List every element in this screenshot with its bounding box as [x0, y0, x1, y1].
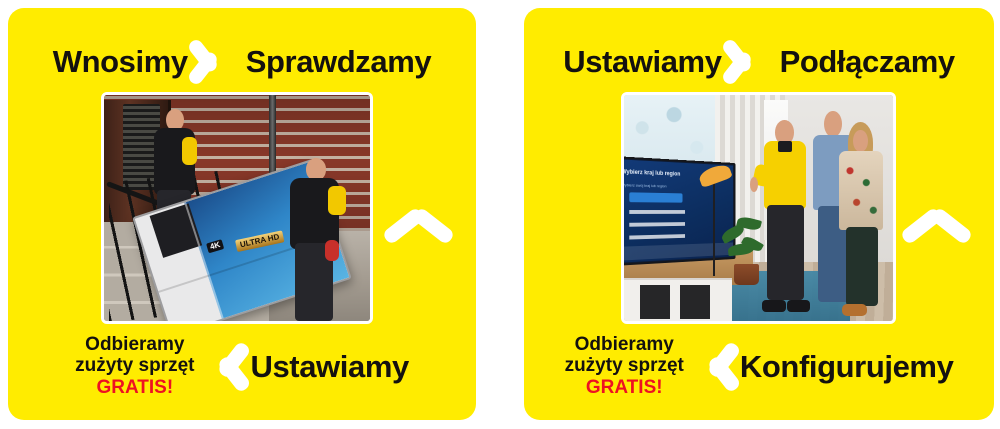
tv-setup-options	[629, 209, 685, 240]
cabinet-compartment-2	[680, 285, 710, 319]
tv-setup-title: Wybierz kraj lub region	[624, 170, 681, 178]
chevron-down-icon	[902, 206, 972, 246]
pickup-offer-delivery: Odbieramy zużyty sprzęt GRATIS!	[75, 334, 194, 398]
step-label-ustawiamy-header: Ustawiamy	[563, 46, 721, 77]
panel-delivery-header: Wnosimy Sprawdzamy	[8, 30, 476, 92]
chevron-right-icon	[198, 32, 236, 90]
technician	[761, 120, 812, 310]
step-label-sprawdzamy: Sprawdzamy	[246, 46, 432, 77]
chevron-left-icon	[202, 335, 242, 397]
technician-hand	[750, 177, 758, 192]
floor-lamp-pole	[713, 172, 715, 276]
customer-woman	[839, 122, 885, 312]
customer-woman-floral-top	[839, 151, 883, 231]
panel-installation-footer: Odbieramy zużyty sprzęt GRATIS! Konfigur…	[524, 328, 994, 404]
tv-setup-bottom-bar	[624, 242, 733, 261]
cabinet-compartment-1	[640, 285, 670, 319]
panel-delivery-footer: Odbieramy zużyty sprzęt GRATIS! Ustawiam…	[8, 328, 476, 404]
chevron-left-icon	[692, 335, 732, 397]
plant-pot	[734, 264, 760, 285]
tv-setup-button	[629, 193, 683, 203]
pickup-offer-installation: Odbieramy zużyty sprzęt GRATIS!	[565, 334, 684, 398]
worker-front	[285, 158, 354, 321]
customer-woman-shoe	[842, 304, 867, 315]
pickup-free-badge: GRATIS!	[565, 377, 684, 398]
pickup-free-badge: GRATIS!	[75, 377, 194, 398]
pickup-line-1: Odbieramy	[75, 334, 194, 355]
step-label-wnosimy: Wnosimy	[53, 46, 188, 77]
technician-shoe-left	[762, 300, 786, 311]
service-steps-board: Wnosimy Sprawdzamy	[0, 0, 1000, 429]
technician-trousers	[767, 205, 804, 300]
chevron-right-icon	[732, 32, 770, 90]
panel-installation-header: Ustawiamy Podłączamy	[524, 30, 994, 92]
pickup-line-2: zużyty sprzęt	[75, 355, 194, 376]
step-label-ustawiamy: Ustawiamy	[250, 351, 408, 382]
step-label-konfigurujemy: Konfigurujemy	[740, 351, 954, 382]
technician-collar	[778, 141, 792, 152]
photo-technician-configuring-tv: Wybierz kraj lub region Wybierz swój kra…	[621, 92, 896, 324]
tv-setup-subtitle: Wybierz swój kraj lub region	[624, 182, 667, 188]
pickup-line-1: Odbieramy	[565, 334, 684, 355]
chevron-down-icon	[384, 206, 454, 246]
customer-woman-trousers	[846, 227, 878, 307]
panel-delivery: Wnosimy Sprawdzamy	[8, 8, 476, 420]
photo-carrying-tv-upstairs: 4K ULTRA HD	[101, 92, 373, 324]
customer-woman-head	[853, 130, 868, 153]
step-label-podlaczamy: Podłączamy	[780, 46, 955, 77]
panel-installation: Ustawiamy Podłączamy Wybierz k	[524, 8, 994, 420]
photo-delivery-content: 4K ULTRA HD	[104, 95, 370, 321]
worker-rear-sleeve	[182, 137, 197, 165]
pickup-line-2: zużyty sprzęt	[565, 355, 684, 376]
worker-front-sleeve	[328, 186, 346, 215]
photo-installation-content: Wybierz kraj lub region Wybierz swój kra…	[624, 95, 893, 321]
worker-front-glove	[325, 240, 339, 261]
technician-shoe-right	[787, 300, 811, 311]
